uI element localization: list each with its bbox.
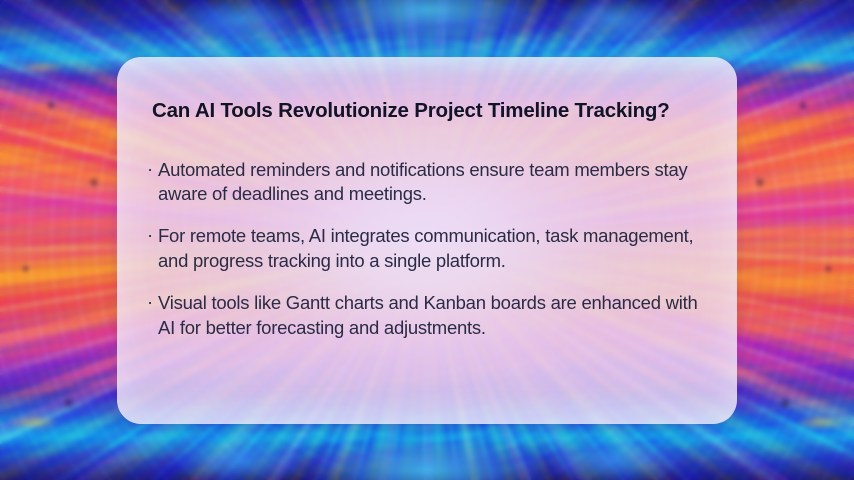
list-item-text: Automated reminders and notifications en… bbox=[158, 158, 707, 208]
bullet-dot-icon: · bbox=[147, 157, 158, 182]
bullet-dot-icon: · bbox=[147, 223, 158, 248]
content-card: Can AI Tools Revolutionize Project Timel… bbox=[117, 57, 737, 424]
list-item-text: For remote teams, AI integrates communic… bbox=[158, 224, 707, 274]
list-item: · Automated reminders and notifications … bbox=[147, 158, 707, 208]
bullet-list: · Automated reminders and notifications … bbox=[147, 158, 707, 341]
slide-canvas: Can AI Tools Revolutionize Project Timel… bbox=[0, 0, 854, 480]
list-item: · Visual tools like Gantt charts and Kan… bbox=[147, 291, 707, 341]
slide-title: Can AI Tools Revolutionize Project Timel… bbox=[152, 99, 707, 124]
list-item-text: Visual tools like Gantt charts and Kanba… bbox=[158, 291, 707, 341]
list-item: · For remote teams, AI integrates commun… bbox=[147, 224, 707, 274]
bullet-dot-icon: · bbox=[147, 290, 158, 315]
